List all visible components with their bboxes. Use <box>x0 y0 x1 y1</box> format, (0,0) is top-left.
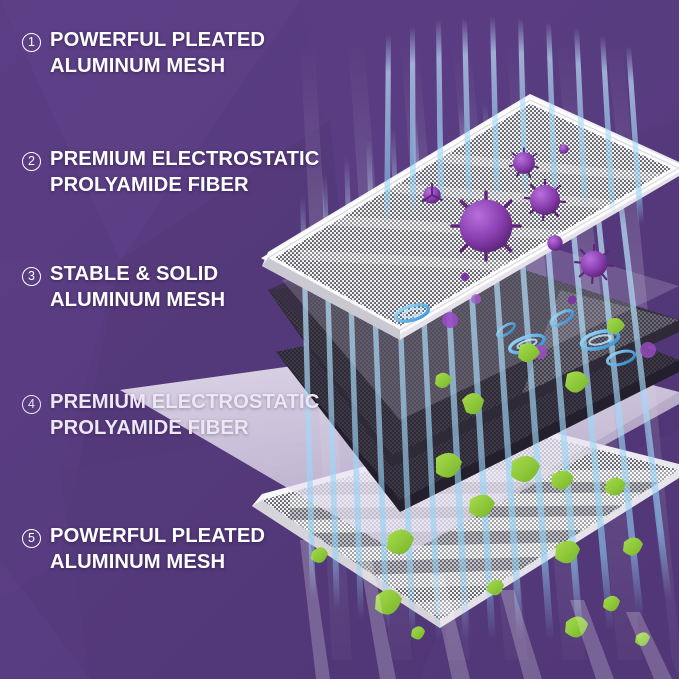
feature-number-3: 3 <box>22 267 41 286</box>
feature-label-3: STABLE & SOLID ALUMINUM MESH <box>50 262 225 313</box>
feature-number-2: 2 <box>22 152 41 171</box>
feature-label-2: PREMIUM ELECTROSTATIC PROLYAMIDE FIBER <box>50 147 319 198</box>
feature-item-3: 3 STABLE & SOLID ALUMINUM MESH <box>22 262 225 313</box>
feature-label-list: 1 POWERFUL PLEATED ALUMINUM MESH 2 PREMI… <box>0 0 380 679</box>
captured-particle <box>640 342 656 358</box>
feature-item-4: 4 PREMIUM ELECTROSTATIC PROLYAMIDE FIBER <box>22 390 319 441</box>
captured-particle <box>442 312 458 328</box>
virus-particle <box>568 296 576 304</box>
virus-particle <box>547 235 562 250</box>
feature-number-4: 4 <box>22 395 41 414</box>
feature-item-2: 2 PREMIUM ELECTROSTATIC PROLYAMIDE FIBER <box>22 147 319 198</box>
feature-number-1: 1 <box>22 33 41 52</box>
feature-label-1: POWERFUL PLEATED ALUMINUM MESH <box>50 28 265 79</box>
feature-label-4: PREMIUM ELECTROSTATIC PROLYAMIDE FIBER <box>50 390 319 441</box>
feature-label-5: POWERFUL PLEATED ALUMINUM MESH <box>50 524 265 575</box>
feature-item-1: 1 POWERFUL PLEATED ALUMINUM MESH <box>22 28 265 79</box>
captured-particle <box>471 294 481 304</box>
feature-item-5: 5 POWERFUL PLEATED ALUMINUM MESH <box>22 524 265 575</box>
virus-particle <box>452 192 520 260</box>
virus-particle <box>559 144 569 154</box>
virus-particle <box>461 273 469 281</box>
infographic-canvas: 1 POWERFUL PLEATED ALUMINUM MESH 2 PREMI… <box>0 0 679 679</box>
feature-number-5: 5 <box>22 529 41 548</box>
